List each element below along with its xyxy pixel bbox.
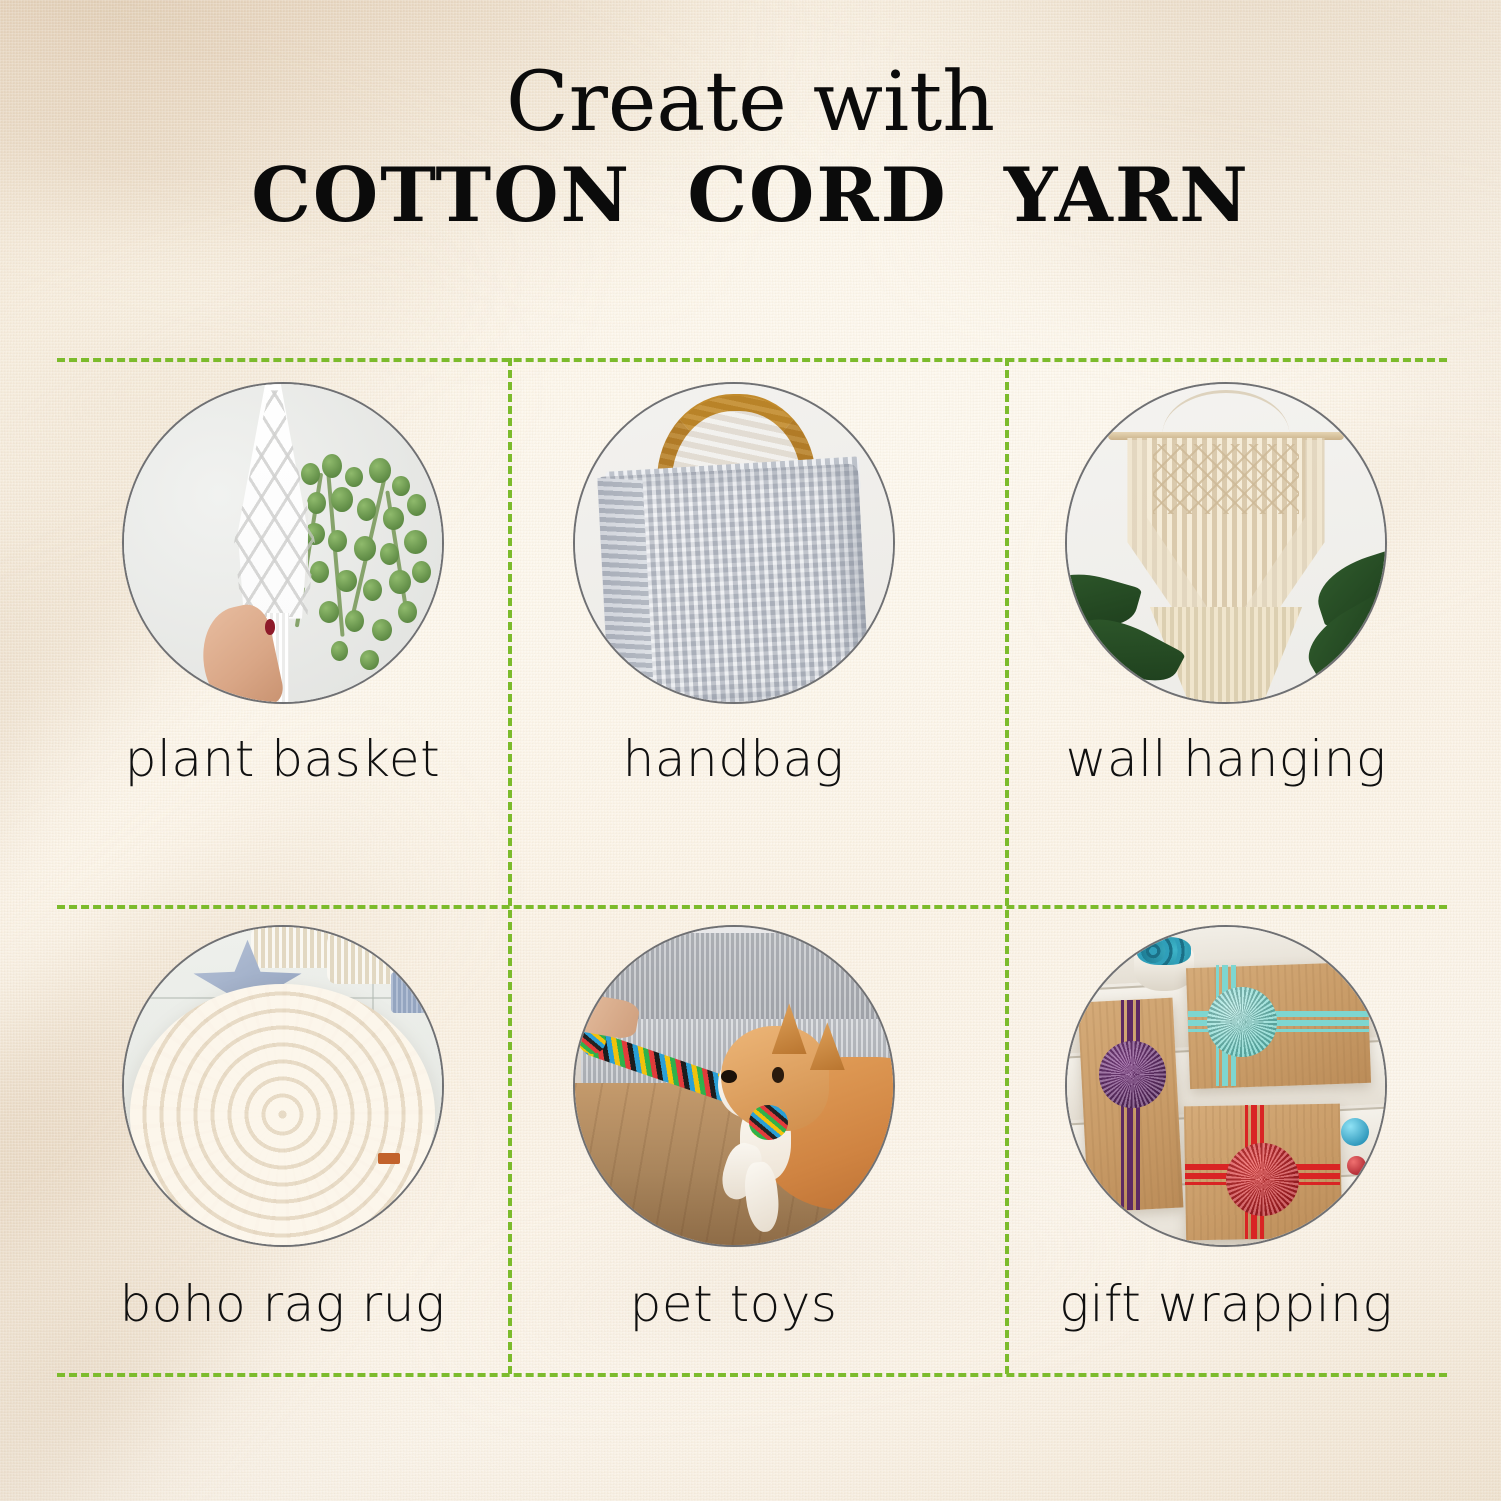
cell-label: boho rag rug <box>120 1275 446 1333</box>
grid-cell-pet-toys[interactable]: pet toys <box>508 905 959 1374</box>
cell-label: plant basket <box>125 730 440 788</box>
page-title: Create with COTTON CORD YARN <box>0 62 1501 233</box>
grid-cell-gift-wrapping[interactable]: gift wrapping <box>1005 905 1447 1374</box>
product-grid: plant basket handbag <box>57 358 1447 1374</box>
pet-rope-toy-photo[interactable] <box>573 925 895 1247</box>
cell-label: handbag <box>623 730 845 788</box>
gift-wrapping-pompoms-photo[interactable] <box>1065 925 1387 1247</box>
grid-cell-handbag[interactable]: handbag <box>508 358 959 905</box>
macrame-wall-hanging-photo[interactable] <box>1065 382 1387 704</box>
grid-cell-boho-rag-rug[interactable]: boho rag rug <box>57 905 508 1374</box>
title-line-2: COTTON CORD YARN <box>0 158 1501 233</box>
grid-cell-wall-hanging[interactable]: wall hanging <box>1005 358 1447 905</box>
cell-label: wall hanging <box>1066 730 1387 788</box>
cell-label: pet toys <box>630 1275 838 1333</box>
grid-cell-plant-basket[interactable]: plant basket <box>57 358 508 905</box>
crochet-handbag-photo[interactable] <box>573 382 895 704</box>
poster-canvas: Create with COTTON CORD YARN <box>0 0 1501 1501</box>
cell-label: gift wrapping <box>1059 1275 1393 1333</box>
title-line-1: Create with <box>0 62 1501 144</box>
boho-rag-rug-photo[interactable] <box>122 925 444 1247</box>
macrame-plant-hanger-photo[interactable] <box>122 382 444 704</box>
